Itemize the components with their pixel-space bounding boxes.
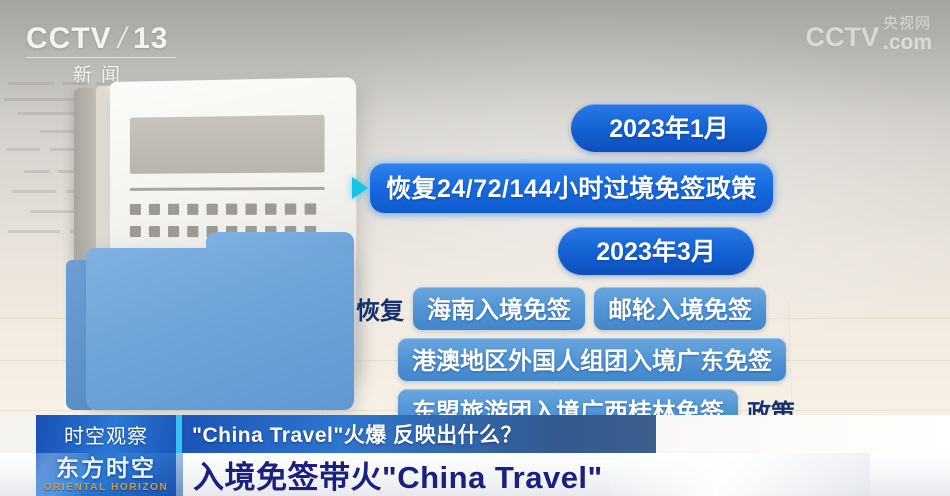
policy-item-cruise: 邮轮入境免签	[594, 287, 766, 330]
watermark-wordmark: CCTV	[805, 22, 879, 53]
policy-prefix-label: 恢复	[356, 291, 404, 326]
watermark-cn-label: 央视网	[883, 16, 931, 31]
month-badge-2023-01: 2023年1月	[571, 104, 767, 152]
play-triangle-icon	[352, 177, 368, 199]
policy-list: 恢复 海南入境免签 邮轮入境免签 港澳地区外国人组团入境广东免签 东盟旅游团入境…	[352, 287, 950, 432]
document-header-bar	[130, 115, 325, 174]
channel-logo-row: CCTV / 13	[26, 22, 216, 56]
document-divider-line	[130, 187, 325, 191]
channel-number: 13	[133, 22, 168, 56]
policy-item-hainan: 海南入境免签	[413, 287, 585, 330]
folder-illustration	[52, 80, 372, 410]
subtitle-text: "China Travel"火爆 反映出什么？	[192, 419, 522, 449]
subtitle-bar: "China Travel"火爆 反映出什么？	[176, 415, 950, 453]
policy-list-row-2: 港澳地区外国人组团入境广东免签	[398, 338, 950, 381]
channel-logo: CCTV / 13 新闻	[26, 22, 216, 78]
cctv-com-watermark: CCTV 央视网 .com	[805, 16, 932, 53]
logo-underline	[26, 57, 176, 58]
month-badge-row-2: 2023年3月	[352, 227, 950, 275]
cctv-wordmark: CCTV	[26, 22, 112, 56]
segment-kicker-label: 时空观察	[36, 415, 176, 453]
logo-slash-icon: /	[114, 22, 131, 56]
watermark-domain: .com	[883, 32, 932, 53]
headline-accent-edge	[176, 453, 183, 496]
program-brand: 东方时空 ORIENTAL HORIZON	[36, 453, 176, 496]
headline-text: 入境免签带火"China Travel"	[193, 452, 603, 496]
program-brand-cn: 东方时空	[56, 457, 156, 480]
highlighted-policy-row: 恢复24/72/144小时过境免签政策	[352, 163, 950, 213]
month-badge-row-1: 2023年1月	[352, 104, 950, 152]
highlighted-policy-bar: 恢复24/72/144小时过境免签政策	[370, 163, 773, 213]
broadcast-frame: CCTV / 13 新闻 CCTV 央视网 .com	[0, 0, 950, 496]
folder-front-panel	[86, 248, 354, 410]
policy-list-row-1: 恢复 海南入境免签 邮轮入境免签	[356, 287, 950, 330]
program-brand-en: ORIENTAL HORIZON	[44, 483, 169, 493]
month-badge-2023-03: 2023年3月	[558, 227, 754, 275]
watermark-right-block: 央视网 .com	[883, 16, 932, 53]
policy-timeline: 2023年1月 恢复24/72/144小时过境免签政策 2023年3月 恢复 海…	[352, 104, 950, 440]
policy-item-guangdong: 港澳地区外国人组团入境广东免签	[398, 338, 786, 381]
folder-tab	[206, 232, 354, 254]
subtitle-accent-edge	[176, 415, 182, 453]
headline-bar: 入境免签带火"China Travel"	[176, 453, 950, 496]
lower-third: 时空观察 东方时空 ORIENTAL HORIZON "China Travel…	[0, 415, 950, 496]
